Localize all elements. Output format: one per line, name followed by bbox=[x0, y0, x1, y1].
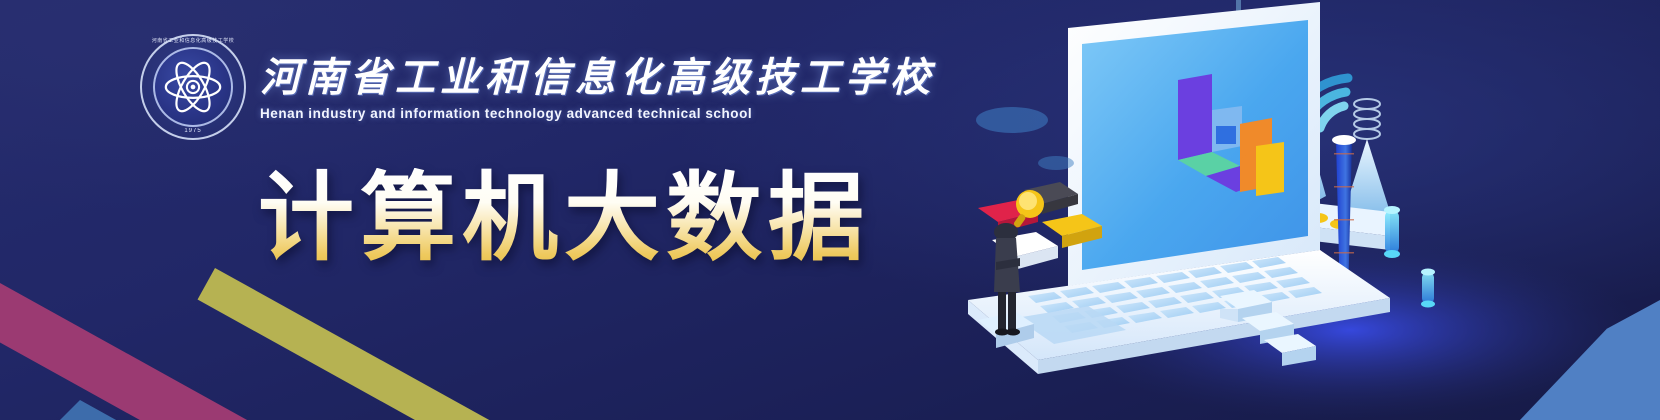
school-header: 河南省工业和信息化高级技工学校 1975 河南省工业和信息化高级技工学校 Hen… bbox=[140, 34, 935, 140]
crest-ring-text-top: 河南省工业和信息化高级技工学校 bbox=[140, 37, 246, 44]
page-title: 计算机大数据 bbox=[258, 168, 870, 269]
crest-ring-text-bottom: 1975 bbox=[140, 128, 246, 134]
laptop bbox=[968, 2, 1390, 374]
banner-root: 河南省工业和信息化高级技工学校 1975 河南省工业和信息化高级技工学校 Hen… bbox=[0, 0, 1660, 420]
atom-emblem-icon: 河南省工业和信息化高级技工学校 1975 bbox=[140, 34, 246, 140]
atom-orbit-icon bbox=[159, 53, 227, 121]
stripe-olive-1 bbox=[198, 268, 600, 420]
school-name-cn: 河南省工业和信息化高级技工学校 bbox=[260, 57, 935, 99]
illustration bbox=[920, 0, 1660, 420]
coil-icon-3 bbox=[1354, 99, 1380, 139]
school-name-en: Henan industry and information technolog… bbox=[260, 106, 935, 121]
stripe-magenta-1 bbox=[0, 150, 302, 420]
bubble-small bbox=[1038, 156, 1074, 170]
bubble-large bbox=[976, 107, 1048, 133]
